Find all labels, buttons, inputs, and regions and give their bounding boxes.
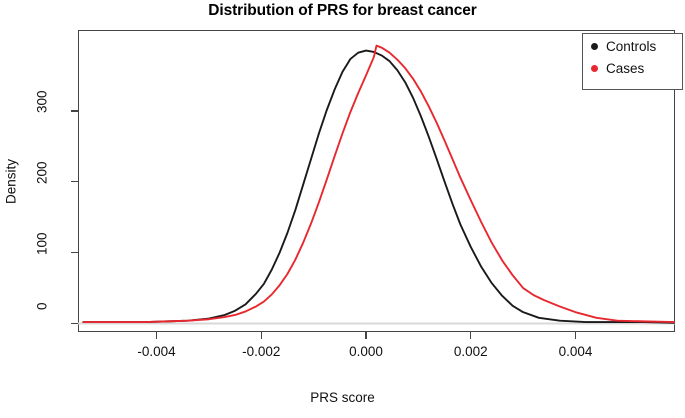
y-axis-title: Density — [4, 142, 19, 222]
chart-legend: Controls Cases — [582, 33, 683, 90]
y-tick-label: 0 — [35, 303, 50, 343]
x-tick-label: 0.004 — [541, 344, 611, 359]
y-tick-mark — [71, 323, 78, 324]
x-tick-label: -0.002 — [226, 344, 296, 359]
y-tick-mark — [71, 110, 78, 111]
x-tick-mark — [156, 332, 157, 339]
density-curve-controls — [83, 51, 675, 323]
legend-label: Controls — [606, 40, 656, 54]
x-tick-label: 0.002 — [436, 344, 506, 359]
x-tick-mark — [575, 332, 576, 339]
y-tick-label: 200 — [35, 161, 50, 201]
y-tick-label: 100 — [35, 232, 50, 272]
legend-item-cases: Cases — [591, 62, 644, 76]
x-axis-title: PRS score — [0, 390, 685, 405]
chart-title: Distribution of PRS for breast cancer — [0, 2, 685, 20]
x-tick-label: 0.000 — [331, 344, 401, 359]
legend-label: Cases — [606, 62, 644, 76]
x-tick-mark — [261, 332, 262, 339]
y-tick-label: 300 — [35, 90, 50, 130]
legend-dot-icon — [591, 65, 598, 72]
y-tick-mark — [71, 252, 78, 253]
y-tick-mark — [71, 181, 78, 182]
x-tick-label: -0.004 — [122, 344, 192, 359]
chart-figure: Distribution of PRS for breast cancer -0… — [0, 0, 685, 418]
x-tick-mark — [365, 332, 366, 339]
legend-item-controls: Controls — [591, 40, 656, 54]
legend-dot-icon — [591, 43, 598, 50]
x-tick-mark — [470, 332, 471, 339]
